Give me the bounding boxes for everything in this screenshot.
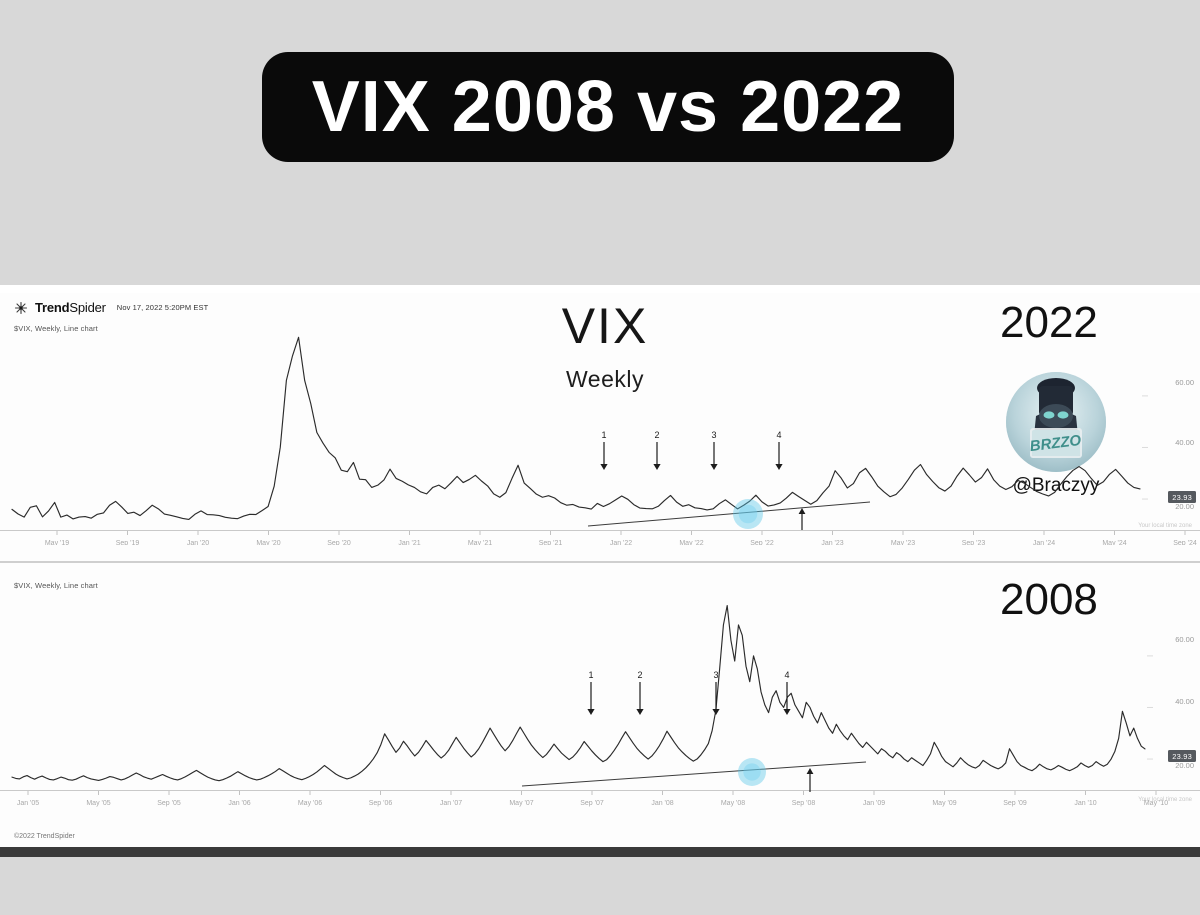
svg-text:Jan '23: Jan '23 xyxy=(821,540,843,545)
last-price-badge-2008: 23.93 xyxy=(1168,750,1196,762)
svg-text:2: 2 xyxy=(654,430,659,440)
svg-text:May '09: May '09 xyxy=(932,800,956,807)
symbol-line-2008: $VIX, Weekly, Line chart xyxy=(14,581,98,590)
svg-text:May '05: May '05 xyxy=(86,800,110,807)
svg-text:4: 4 xyxy=(784,670,789,680)
svg-text:May '22: May '22 xyxy=(679,540,703,545)
wordmark-light: Spider xyxy=(69,300,105,315)
vix-chart-2022[interactable]: May '19Sep '19Jan '20May '20Sep '20Jan '… xyxy=(0,330,1200,545)
svg-text:May '06: May '06 xyxy=(298,800,322,807)
svg-text:Sep '24: Sep '24 xyxy=(1173,540,1197,545)
chart-timestamp: Nov 17, 2022 5:20PM EST xyxy=(117,303,209,312)
svg-text:Jan '06: Jan '06 xyxy=(228,800,250,807)
vix-chart-2008[interactable]: Jan '05May '05Sep '05Jan '06May '06Sep '… xyxy=(0,590,1200,825)
svg-text:Jan '10: Jan '10 xyxy=(1074,800,1096,807)
svg-text:3: 3 xyxy=(711,430,716,440)
trendspider-brand-header: TrendSpider Nov 17, 2022 5:20PM EST xyxy=(14,300,208,315)
svg-text:Jan '21: Jan '21 xyxy=(398,540,420,545)
frame-bar-bottom xyxy=(0,847,1200,857)
svg-text:May '23: May '23 xyxy=(891,540,915,545)
price-tick: 20.00 xyxy=(1175,502,1194,511)
svg-text:Sep '22: Sep '22 xyxy=(750,540,774,545)
svg-text:Sep '21: Sep '21 xyxy=(539,540,563,545)
page-title: VIX 2008 vs 2022 xyxy=(312,66,905,148)
timezone-watermark: Your local time zone xyxy=(1138,797,1192,803)
copyright-notice: ©2022 TrendSpider xyxy=(14,833,75,840)
svg-text:May '07: May '07 xyxy=(509,800,533,807)
svg-text:Sep '19: Sep '19 xyxy=(116,540,140,545)
svg-text:Sep '06: Sep '06 xyxy=(369,800,393,807)
svg-text:Jan '09: Jan '09 xyxy=(863,800,885,807)
svg-text:Sep '08: Sep '08 xyxy=(792,800,816,807)
svg-text:Sep '05: Sep '05 xyxy=(157,800,181,807)
svg-text:Jan '08: Jan '08 xyxy=(651,800,673,807)
svg-text:Jan '20: Jan '20 xyxy=(187,540,209,545)
svg-text:Sep '07: Sep '07 xyxy=(580,800,604,807)
timezone-watermark: Your local time zone xyxy=(1138,523,1192,529)
trendspider-logo-icon xyxy=(14,301,28,315)
svg-text:May '24: May '24 xyxy=(1102,540,1126,545)
price-tick: 20.00 xyxy=(1175,761,1194,770)
svg-text:2: 2 xyxy=(637,670,642,680)
svg-text:May '19: May '19 xyxy=(45,540,69,545)
svg-text:Jan '22: Jan '22 xyxy=(610,540,632,545)
wordmark-bold: Trend xyxy=(35,300,69,315)
svg-text:Jan '05: Jan '05 xyxy=(17,800,39,807)
svg-text:Sep '23: Sep '23 xyxy=(962,540,986,545)
last-price-badge-2022: 23.93 xyxy=(1168,491,1196,503)
svg-text:4: 4 xyxy=(776,430,781,440)
svg-text:May '08: May '08 xyxy=(721,800,745,807)
price-tick: 60.00 xyxy=(1175,635,1194,644)
price-tick: 60.00 xyxy=(1175,378,1194,387)
svg-text:1: 1 xyxy=(601,430,606,440)
svg-text:Jan '24: Jan '24 xyxy=(1033,540,1055,545)
svg-text:1: 1 xyxy=(588,670,593,680)
price-tick: 40.00 xyxy=(1175,438,1194,447)
svg-text:May '20: May '20 xyxy=(256,540,280,545)
title-banner: VIX 2008 vs 2022 xyxy=(262,52,954,162)
svg-text:Sep '09: Sep '09 xyxy=(1003,800,1027,807)
trendspider-wordmark: TrendSpider xyxy=(35,300,106,315)
svg-text:May '21: May '21 xyxy=(468,540,492,545)
svg-text:Jan '07: Jan '07 xyxy=(440,800,462,807)
price-tick: 40.00 xyxy=(1175,697,1194,706)
svg-text:3: 3 xyxy=(713,670,718,680)
svg-text:Sep '20: Sep '20 xyxy=(327,540,351,545)
